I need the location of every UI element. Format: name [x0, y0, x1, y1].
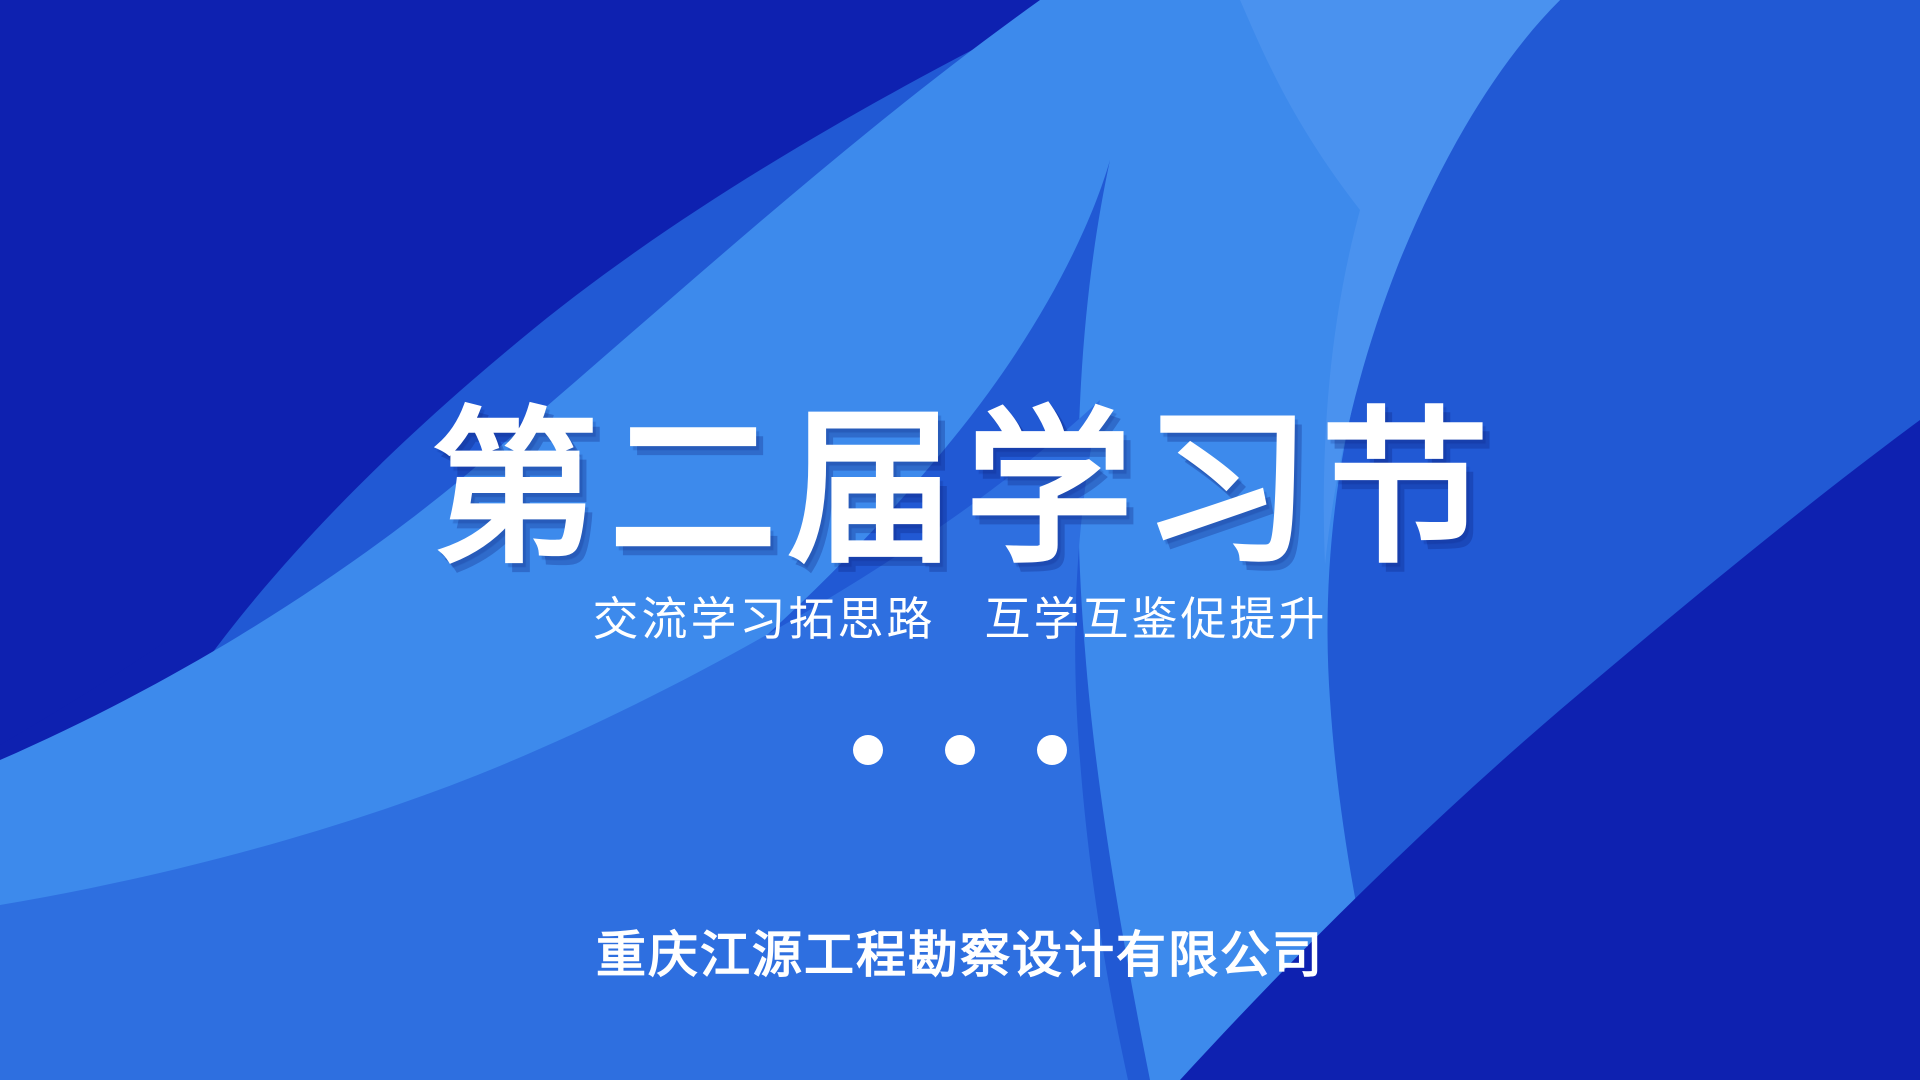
page-title: 第二届学习节 — [0, 405, 1920, 573]
divider-dot-2 — [945, 735, 975, 765]
organization-name: 重庆江源工程勘察设计有限公司 — [0, 925, 1920, 985]
divider-dot-1 — [853, 735, 883, 765]
poster-canvas: 第二届学习节 交流学习拓思路 互学互鉴促提升 重庆江源工程勘察设计有限公司 — [0, 0, 1920, 1080]
subtitle-slogan: 交流学习拓思路 互学互鉴促提升 — [0, 592, 1920, 647]
divider-dot-3 — [1037, 735, 1067, 765]
poster-content: 第二届学习节 交流学习拓思路 互学互鉴促提升 重庆江源工程勘察设计有限公司 — [0, 0, 1920, 1080]
dot-divider — [0, 735, 1920, 765]
